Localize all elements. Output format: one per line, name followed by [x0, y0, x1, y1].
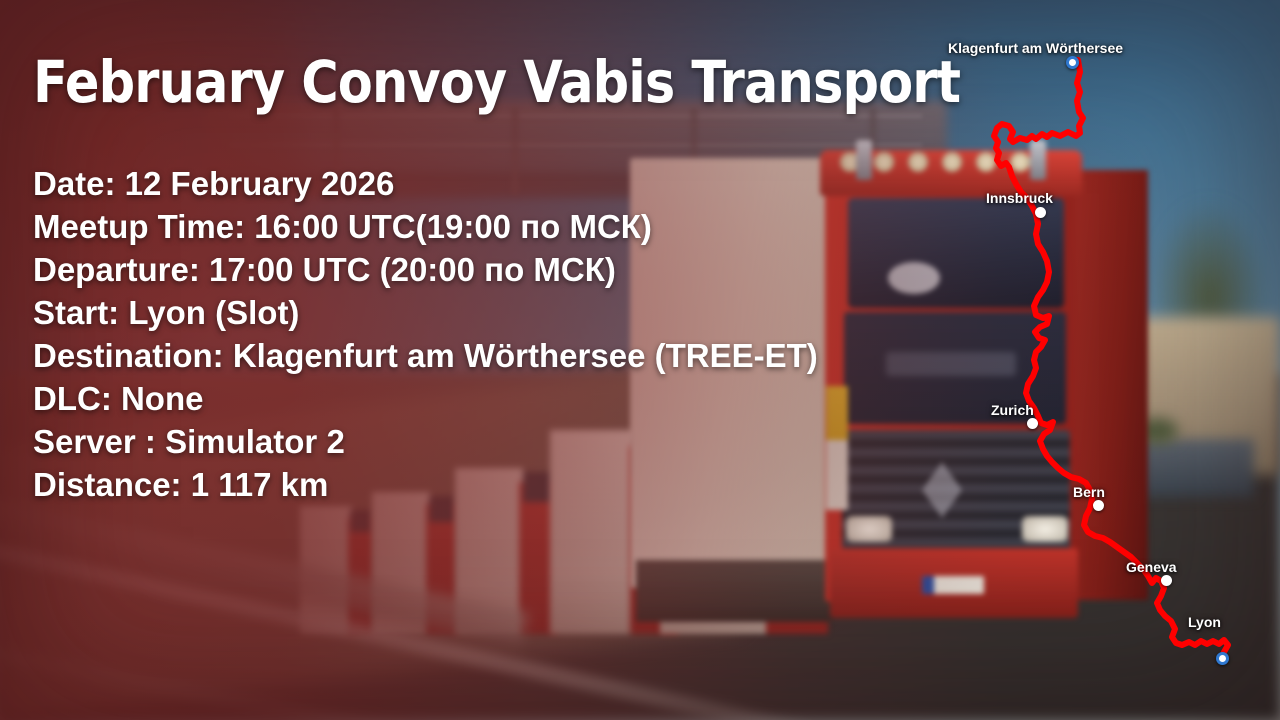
detail-dlc: DLC: None [33, 377, 818, 420]
convoy-details-list: Date: 12 February 2026 Meetup Time: 16:0… [33, 162, 818, 506]
detail-server: Server : Simulator 2 [33, 420, 818, 463]
detail-meetup-time: Meetup Time: 16:00 UTC(19:00 по МСК) [33, 205, 818, 248]
detail-start: Start: Lyon (Slot) [33, 291, 818, 334]
detail-date: Date: 12 February 2026 [33, 162, 818, 205]
convoy-announcement-poster: February Convoy Vabis Transport Date: 12… [0, 0, 1280, 720]
detail-departure: Departure: 17:00 UTC (20:00 по МСК) [33, 248, 818, 291]
page-title: February Convoy Vabis Transport [33, 48, 960, 116]
detail-distance: Distance: 1 117 km [33, 463, 818, 506]
detail-destination: Destination: Klagenfurt am Wörthersee (T… [33, 334, 818, 377]
